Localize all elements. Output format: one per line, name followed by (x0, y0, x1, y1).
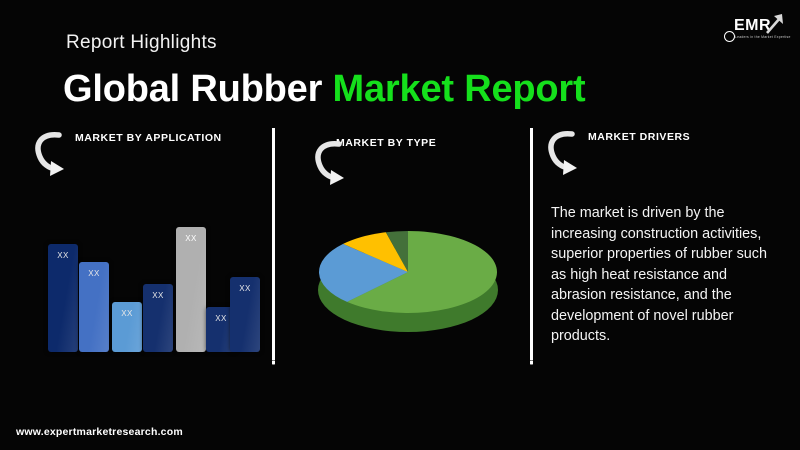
divider-right (530, 128, 533, 360)
bar-chart-market-by-application: XXXXXXXXXXXXXX (0, 0, 272, 450)
bar-3: XX (112, 302, 142, 352)
bar-7: XX (230, 277, 260, 352)
footer-url[interactable]: www.expertmarketresearch.com (16, 426, 183, 438)
bar-1: XX (48, 244, 78, 352)
bar-value-label: XX (112, 309, 142, 318)
page-title-accent: Market Report (333, 68, 586, 110)
bar-4: XX (143, 284, 173, 352)
slide-canvas: Report Highlights Global Rubber Market R… (0, 0, 800, 450)
pie-chart-market-by-type (308, 222, 508, 352)
bar-2: XX (79, 262, 109, 352)
bar-5: XX (176, 227, 206, 352)
curved-arrow-icon-type (312, 140, 352, 190)
bar-value-label: XX (143, 291, 173, 300)
growth-arrow-icon (764, 12, 786, 36)
emr-logo[interactable]: EMR Leaders in the Market Expertise (720, 12, 786, 48)
market-drivers-text: The market is driven by the increasing c… (551, 203, 777, 347)
column-title-drivers: MARKET DRIVERS (588, 131, 690, 143)
pie-top-face (318, 230, 498, 314)
bar-value-label: XX (79, 269, 109, 278)
bar-value-label: XX (230, 284, 260, 293)
bar-value-label: XX (48, 251, 78, 260)
divider-left (272, 128, 275, 360)
curved-arrow-icon-drivers (545, 130, 585, 180)
bar-value-label: XX (176, 234, 206, 243)
